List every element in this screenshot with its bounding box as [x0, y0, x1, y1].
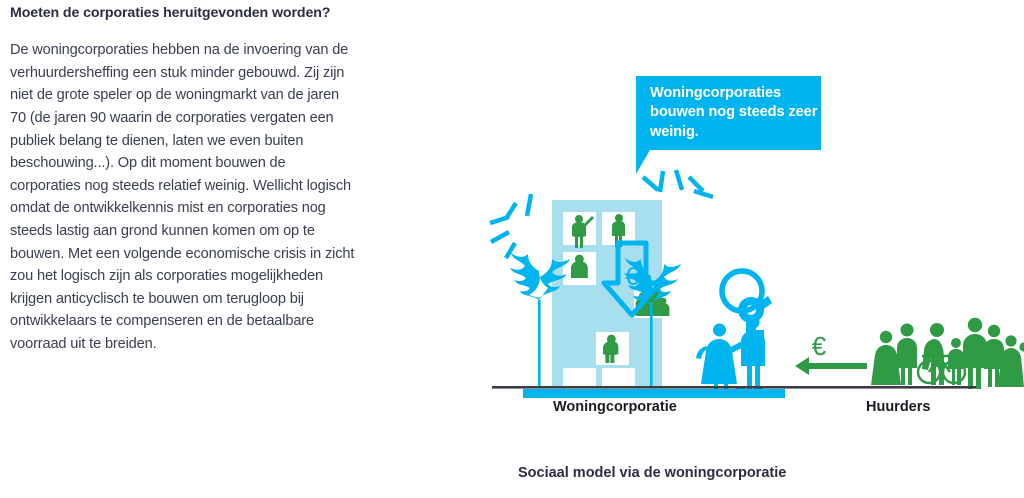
couple-figures-icon	[696, 315, 765, 390]
article-text-column: Moeten de corporaties heruitgevonden wor…	[10, 4, 355, 356]
label-huurders: Huurders	[866, 399, 930, 415]
euro-left-arrow-icon: €	[795, 331, 867, 375]
ground-line	[492, 386, 976, 389]
illustration-caption: Sociaal model via de woningcorporatie	[518, 465, 786, 481]
burst-sparkle-icon	[643, 177, 658, 190]
social-model-illustration: €	[470, 0, 1024, 498]
article-body-text: De woningcorporaties hebben na de invoer…	[10, 39, 355, 356]
speech-bubble: Woningcorporaties bouwen nog steeds zeer…	[636, 76, 821, 150]
burst-sparkle-icon	[490, 194, 531, 258]
label-woningcorporatie: Woningcorporatie	[553, 399, 677, 415]
speech-bubble-tail	[636, 150, 650, 174]
page-title: Moeten de corporaties heruitgevonden wor…	[10, 4, 355, 23]
burst-sparkle-icon	[660, 170, 713, 197]
corporation-ground-bar	[523, 389, 785, 398]
speech-bubble-text: Woningcorporaties bouwen nog steeds zeer…	[650, 84, 818, 142]
euro-glyph-flow: €	[812, 331, 827, 361]
illustration-canvas: €	[470, 0, 1024, 498]
tenant-crowd-icon	[871, 318, 1024, 389]
